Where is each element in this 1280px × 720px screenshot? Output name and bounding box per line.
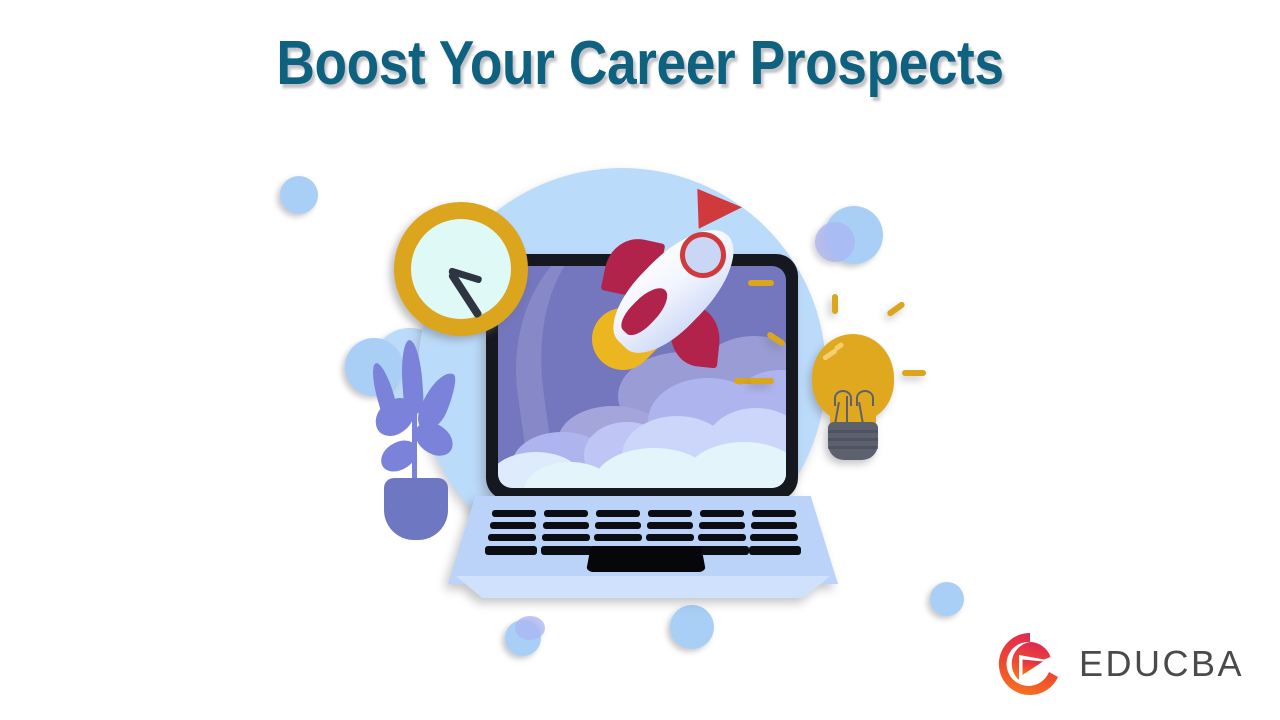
bulb-ray <box>832 294 838 314</box>
potted-plant-icon <box>362 338 462 538</box>
educba-logo-text: EDUCBA <box>1079 643 1244 685</box>
decorative-bubble-icon <box>505 620 541 656</box>
rocket-window <box>680 232 726 278</box>
laptop-front-lip <box>456 576 830 598</box>
decorative-bubble-icon <box>930 582 964 616</box>
bulb-ray <box>750 378 774 384</box>
rocket-nose-cone <box>697 187 742 229</box>
bulb-glass <box>812 334 894 422</box>
bulb-filament <box>846 396 848 424</box>
bulb-ray <box>886 301 906 318</box>
bulb-screw-base <box>828 422 878 460</box>
clock-icon <box>394 202 528 336</box>
decorative-bubble-icon <box>670 605 714 649</box>
page-title: Boost Your Career Prospects <box>90 30 1191 98</box>
decorative-bubble-icon <box>280 176 318 214</box>
lightbulb-icon <box>798 330 918 480</box>
clock-face <box>411 219 511 319</box>
plant-pot <box>384 478 448 540</box>
illustration <box>270 150 990 650</box>
educba-logo[interactable]: EDUCBA <box>995 628 1235 700</box>
educba-logo-mark-icon <box>995 629 1065 699</box>
laptop-trackpad <box>586 546 706 572</box>
rocket-icon <box>588 180 798 390</box>
bulb-ray <box>902 370 926 376</box>
slide-canvas: Boost Your Career Prospects <box>0 0 1280 720</box>
